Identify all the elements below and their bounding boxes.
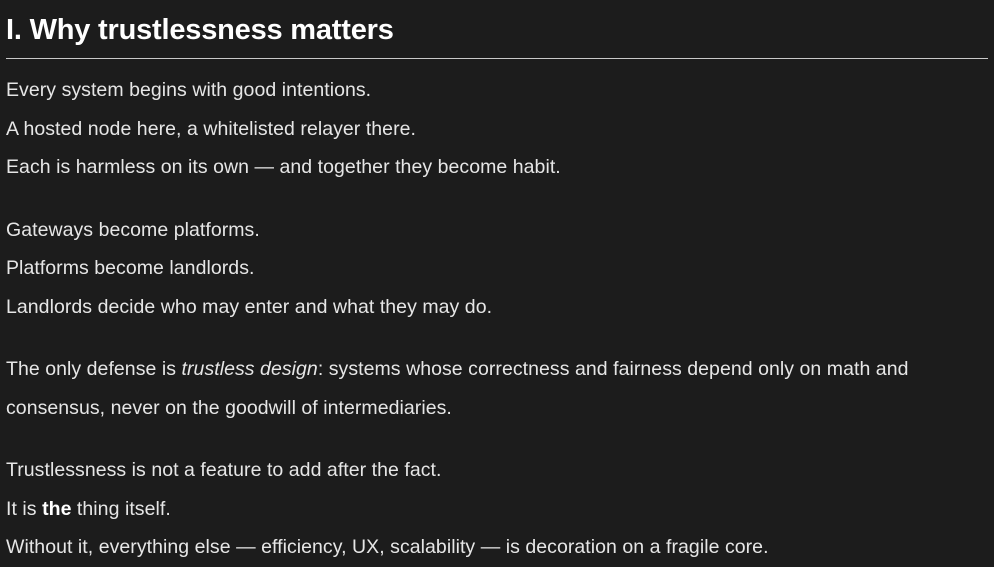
- paragraph-intentions: Every system begins with good intentions…: [6, 71, 988, 187]
- paragraph-trustless-design: The only defense is trustless design: sy…: [6, 350, 988, 427]
- text-line: Platforms become landlords.: [6, 249, 988, 288]
- paragraph-gateways: Gateways become platforms. Platforms bec…: [6, 211, 988, 327]
- text-segment-bold: the: [42, 498, 71, 520]
- text-segment-lead: It is: [6, 498, 42, 520]
- text-segment-tail: thing itself.: [71, 498, 170, 520]
- text-line: Each is harmless on its own — and togeth…: [6, 148, 988, 187]
- text-line: A hosted node here, a whitelisted relaye…: [6, 110, 988, 149]
- document-page: I. Why trustlessness matters Every syste…: [0, 0, 994, 565]
- text-line: Landlords decide who may enter and what …: [6, 288, 988, 327]
- paragraph-thing-itself: Trustlessness is not a feature to add af…: [6, 451, 988, 567]
- text-line: Gateways become platforms.: [6, 211, 988, 250]
- text-line: Trustlessness is not a feature to add af…: [6, 451, 988, 490]
- text-segment-italic: trustless design: [182, 358, 318, 380]
- text-line: Every system begins with good intentions…: [6, 71, 988, 110]
- page-title: I. Why trustlessness matters: [6, 0, 988, 49]
- text-line: Without it, everything else — efficiency…: [6, 528, 988, 567]
- text-line-emphasis: It is the thing itself.: [6, 490, 988, 529]
- text-segment-lead: The only defense is: [6, 358, 182, 380]
- document-body: Every system begins with good intentions…: [6, 59, 988, 567]
